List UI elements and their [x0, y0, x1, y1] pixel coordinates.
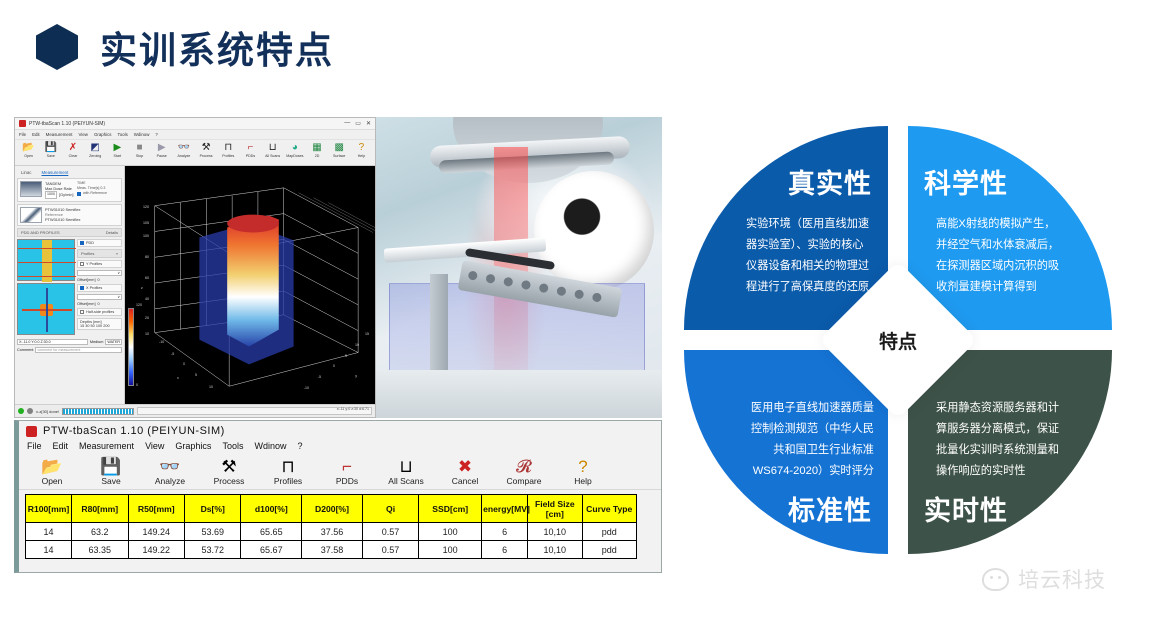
- col-r80: R80[mm]: [72, 495, 128, 523]
- tools-icon: ⚒: [204, 457, 254, 476]
- tools-icon: ⚒: [197, 142, 216, 154]
- toolbar-pdds-button[interactable]: ⌐PDDs: [241, 142, 260, 159]
- with-reference-label: with Reference: [83, 191, 107, 196]
- toolbar-save-button[interactable]: 💾Save: [41, 142, 60, 159]
- menu-window[interactable]: Wdinow: [254, 441, 286, 451]
- scan-results-table: R100[mm] R80[mm] R50[mm] Ds[%] d100[%] D…: [25, 494, 637, 559]
- y-tick-neg10: -10: [304, 386, 309, 390]
- play-icon: ▶: [108, 142, 127, 154]
- z-tick-105: 105: [143, 221, 149, 225]
- toolbar-pause-button[interactable]: ▶Pause: [152, 142, 171, 159]
- cell-r80: 63.2: [72, 523, 128, 541]
- two-d-icon: ▦: [307, 142, 326, 154]
- save-button[interactable]: 💾Save: [86, 457, 136, 487]
- z-tick-20: 20: [145, 316, 149, 320]
- half-side-row[interactable]: Half-side profiles: [77, 308, 122, 316]
- profile-curve-icon: ⊓: [263, 457, 313, 476]
- cell-d100: 65.65: [241, 523, 302, 541]
- cell-r100: 14: [26, 523, 72, 541]
- status-idle-indicator: [27, 408, 33, 414]
- z-tick-100: 100: [143, 234, 149, 238]
- pdd-checkbox[interactable]: [80, 241, 84, 245]
- device-group: TANDEM Max Dose Rate 1000 [Gy/min] TIME …: [17, 178, 122, 202]
- hexagon-icon: [36, 24, 78, 70]
- x-tick-10: 10: [209, 385, 213, 389]
- glasses-icon: 👓: [145, 457, 195, 476]
- cell-field-size: 10,10: [528, 541, 582, 559]
- help-icon: ?: [352, 142, 371, 154]
- pdd-curve-icon: ⌐: [241, 142, 260, 154]
- surface-icon: ▩: [330, 142, 349, 154]
- table-row[interactable]: 14 63.35 149.22 53.72 65.67 37.58 0.57 1…: [26, 541, 637, 559]
- profiles-button[interactable]: ⊓Profiles: [263, 457, 313, 487]
- col-curve-type: Curve Type: [582, 495, 637, 523]
- cell-ssd: 100: [419, 523, 482, 541]
- upper-menubar: File Edit Measurement View Graphics Tool…: [15, 130, 375, 140]
- pdds-button[interactable]: ⌐PDDs: [322, 457, 372, 487]
- upper-statusbar: x-z[30] done! x:-11 y:0 z:30 d:6.71: [15, 404, 375, 417]
- dose-3d-plot: 120 0 z x y 120 105 100 80 60 40 20 10 -…: [125, 166, 375, 404]
- toolbar-all-scans-button[interactable]: ⊔All Scans: [263, 142, 282, 159]
- cell-energy: 6: [482, 523, 528, 541]
- quadrant-title: 科学性: [924, 162, 1008, 201]
- app-icon: [19, 120, 26, 127]
- x-profile-select[interactable]: ∨: [77, 294, 122, 300]
- y-axis-label: y: [355, 374, 357, 378]
- center-label: 特点: [842, 284, 954, 396]
- gantry-bore-shape: [534, 171, 654, 291]
- x-profiles-checkbox[interactable]: [80, 286, 84, 290]
- quadrant-title: 标准性: [788, 489, 872, 528]
- lower-menubar: File Edit Measurement View Graphics Tool…: [19, 439, 661, 454]
- y-tick-15: 15: [365, 332, 369, 336]
- cancel-button[interactable]: ✖Cancel: [440, 457, 490, 487]
- z-tick-40: 40: [145, 297, 149, 301]
- colorbar-min-label: 0: [136, 383, 138, 387]
- upper-app-window: PTW-tbaScan 1.10 (PEIYUN-SIM) — ▭ ✕ File…: [14, 117, 376, 418]
- details-toggle[interactable]: Details: [106, 230, 118, 235]
- x-profiles-row[interactable]: X Profiles: [77, 284, 122, 292]
- status-coords-text: x:-11 y:0 z:30 d:6.71: [337, 407, 369, 411]
- zero-icon: ◩: [86, 142, 105, 154]
- floppy-disk-icon: 💾: [41, 142, 60, 154]
- y-profiles-checkbox[interactable]: [80, 262, 84, 266]
- toolbar-analyze-button[interactable]: 👓Analyze: [174, 142, 193, 159]
- help-button[interactable]: ?Help: [558, 457, 608, 487]
- maximize-button[interactable]: ▭: [355, 120, 361, 127]
- x-profiles-label: X Profiles: [86, 286, 102, 290]
- col-qi: Qi: [362, 495, 418, 523]
- menu-help[interactable]: ?: [155, 132, 157, 137]
- y-profiles-row[interactable]: Y Profiles: [77, 260, 122, 268]
- profiles-subheader: Profiles»: [77, 249, 122, 258]
- cell-d100: 65.67: [241, 541, 302, 559]
- floppy-disk-icon: 💾: [86, 457, 136, 476]
- col-ds: Ds[%]: [185, 495, 241, 523]
- cell-d200: 37.58: [302, 541, 363, 559]
- app-icon: [26, 426, 37, 437]
- x-tick-neg5: -5: [171, 352, 174, 356]
- toolbar-stop-button[interactable]: ■Stop: [130, 142, 149, 159]
- open-button[interactable]: 📂Open: [27, 457, 77, 487]
- menu-view[interactable]: View: [145, 441, 164, 451]
- folder-open-icon: 📂: [19, 142, 38, 154]
- quadrant-description: 采用静态资源服务器和计算服务器分离模式，保证批量化实训时系统测量和操作响应的实时…: [936, 398, 1064, 482]
- cell-r100: 14: [26, 541, 72, 559]
- stop-icon: ■: [130, 142, 149, 154]
- floor-shape: [372, 370, 662, 418]
- col-energy: energy[MV]: [482, 495, 528, 523]
- cell-r50: 149.22: [128, 541, 184, 559]
- detector-group: PTW31010 Semiflex Reference PTW31010 Sem…: [17, 204, 122, 226]
- folder-open-icon: 📂: [27, 457, 77, 476]
- cell-d200: 37.56: [302, 523, 363, 541]
- minimize-button[interactable]: —: [344, 120, 350, 127]
- col-ssd: SSD[cm]: [419, 495, 482, 523]
- menu-view[interactable]: View: [79, 132, 88, 137]
- watermark-text: 培云科技: [1018, 564, 1106, 594]
- cell-r50: 149.24: [128, 523, 184, 541]
- toolbar-zeroing-button[interactable]: ◩Zeroing: [86, 142, 105, 159]
- menu-file[interactable]: File: [19, 132, 26, 137]
- cross-icon: ✗: [63, 142, 82, 154]
- toolbar-surface-button[interactable]: ▩Surface: [330, 142, 349, 159]
- y-profile-select[interactable]: ∨: [77, 270, 122, 276]
- upper-window-title: PTW-tbaScan 1.10 (PEIYUN-SIM): [29, 121, 105, 127]
- col-r50: R50[mm]: [128, 495, 184, 523]
- comment-label: Comment: [17, 348, 33, 352]
- z-tick-60: 60: [145, 276, 149, 280]
- dose-colorbar: [128, 308, 134, 386]
- menu-window[interactable]: Wdinow: [134, 132, 150, 137]
- toolbar-start-button[interactable]: ▶Start: [108, 142, 127, 159]
- offset-label-2: Offset[mm]: [77, 302, 96, 306]
- menu-graphics[interactable]: Graphics: [94, 132, 112, 137]
- wechat-icon: [982, 568, 1009, 591]
- offset-value-2[interactable]: 0: [98, 302, 100, 306]
- toolbar-process-button[interactable]: ⚒Process: [197, 142, 216, 159]
- max-dose-rate-unit: [Gy/min]: [59, 192, 73, 197]
- profile-curve-icon: ⊓: [219, 142, 238, 154]
- section-title: PDD AND PROFILES: [21, 230, 60, 235]
- menu-graphics[interactable]: Graphics: [175, 441, 211, 451]
- y-tick-neg5: -5: [318, 375, 321, 379]
- with-reference-checkbox[interactable]: [77, 192, 81, 196]
- map-doses-icon: ◕: [285, 142, 304, 154]
- colorbar-max-label: 120: [136, 303, 142, 307]
- xy-preview-plot: [17, 283, 75, 335]
- lower-app-window: PTW-tbaScan 1.10 (PEIYUN-SIM) File Edit …: [14, 420, 662, 573]
- y-tick-0: 0: [333, 364, 335, 368]
- reference-detector-name: PTW31010 Semiflex: [45, 217, 119, 222]
- col-d100: d100[%]: [241, 495, 302, 523]
- help-icon: ?: [558, 457, 608, 476]
- menu-measurement[interactable]: Measurement: [46, 132, 73, 137]
- depths-value[interactable]: 15 30 50 100 200: [80, 324, 119, 328]
- z-tick-10: 10: [145, 332, 149, 336]
- quadrant-title: 真实性: [788, 162, 872, 201]
- upper-toolbar: 📂Open 💾Save ✗Clear ◩Zeroing ▶Start ■Stop…: [15, 140, 375, 166]
- all-scans-button[interactable]: ⊔All Scans: [381, 457, 431, 487]
- pause-icon: ▶: [152, 142, 171, 154]
- offset-value-1[interactable]: 0: [98, 278, 100, 282]
- pdd-option-row[interactable]: PDD: [77, 239, 122, 247]
- tab-linac[interactable]: Linac: [21, 170, 32, 175]
- tab-measurement[interactable]: Measurement: [42, 170, 69, 175]
- pdd-label: PDD: [86, 241, 94, 245]
- compare-icon: 𝓡: [499, 457, 549, 476]
- cell-energy: 6: [482, 541, 528, 559]
- plot-svg: [125, 166, 375, 402]
- pdd-profiles-section-header[interactable]: PDD AND PROFILES Details: [17, 228, 122, 237]
- glasses-icon: 👓: [174, 142, 193, 154]
- y-tick-5: 5: [345, 354, 347, 358]
- panel-tabs: Linac Measurement: [17, 168, 122, 178]
- lower-toolbar: 📂Open 💾Save 👓Analyze ⚒Process ⊓Profiles …: [19, 454, 661, 490]
- toolbar-2d-button[interactable]: ▦2D: [307, 142, 326, 159]
- menu-help[interactable]: ?: [297, 441, 302, 451]
- status-text: x-z[30] done!: [36, 409, 59, 414]
- half-side-checkbox[interactable]: [80, 310, 84, 314]
- cell-qi: 0.57: [362, 523, 418, 541]
- close-button[interactable]: ✕: [366, 120, 371, 127]
- pdd-curve-icon: ⌐: [322, 457, 372, 476]
- quadrant-title: 实时性: [924, 489, 1008, 528]
- menu-tools[interactable]: Tools: [118, 132, 128, 137]
- x-tick-0: 0: [183, 362, 185, 366]
- col-field-size: Field Size [cm]: [528, 495, 582, 523]
- toolbar-help-button[interactable]: ?Help: [352, 142, 371, 159]
- x-axis-label: x: [177, 376, 179, 380]
- status-ok-indicator: [18, 408, 24, 414]
- z-tick-120: 120: [143, 205, 149, 209]
- cancel-icon: ✖: [440, 457, 490, 476]
- comment-input[interactable]: comment for measurement: [35, 347, 122, 353]
- depths-row[interactable]: Depths [mm] 15 30 50 100 200: [77, 318, 122, 330]
- quadrant-description: 医用电子直线加速器质量控制检测规范（中华人民共和国卫生行业标准WS674-202…: [746, 398, 874, 482]
- detector-icon: [20, 207, 42, 223]
- cell-qi: 0.57: [362, 541, 418, 559]
- offset-label-1: Offset[mm]: [77, 278, 96, 282]
- cell-ds: 53.72: [185, 541, 241, 559]
- col-r100: R100[mm]: [26, 495, 72, 523]
- menu-measurement[interactable]: Measurement: [79, 441, 134, 451]
- analyze-button[interactable]: 👓Analyze: [145, 457, 195, 487]
- position-readout: X:-11.0 Y:0.0 Z:30.0: [17, 339, 88, 345]
- half-side-label: Half-side profiles: [86, 310, 114, 314]
- cell-curve-type: pdd: [582, 541, 637, 559]
- toolbar-open-button[interactable]: 📂Open: [19, 142, 38, 159]
- x-tick-5: 5: [195, 373, 197, 377]
- cell-ssd: 100: [419, 541, 482, 559]
- pdd-preview-plot: [17, 239, 75, 281]
- features-circle-diagram: 真实性 实验环境（医用直线加速器实验室）、实验的核心仪器设备和相关的物理过程进行…: [684, 126, 1112, 554]
- linac-3d-render-image: [372, 117, 662, 418]
- progress-bar: [62, 408, 134, 415]
- menu-edit[interactable]: Edit: [32, 132, 40, 137]
- watermark: 培云科技: [982, 564, 1106, 594]
- upper-titlebar: PTW-tbaScan 1.10 (PEIYUN-SIM) — ▭ ✕: [15, 118, 375, 130]
- table-row[interactable]: 14 63.2 149.24 53.69 65.65 37.56 0.57 10…: [26, 523, 637, 541]
- x-tick-neg10: -10: [159, 340, 164, 344]
- menu-file[interactable]: File: [27, 441, 42, 451]
- medium-label: Medium: [90, 340, 104, 344]
- all-scans-icon: ⊔: [263, 142, 282, 154]
- measurement-side-panel: Linac Measurement TANDEM Max Dose Rate 1…: [15, 166, 125, 404]
- status-coords-field: x:-11 y:0 z:30 d:6.71: [137, 407, 372, 415]
- lower-titlebar: PTW-tbaScan 1.10 (PEIYUN-SIM): [19, 421, 661, 439]
- all-scans-icon: ⊔: [381, 457, 431, 476]
- menu-tools[interactable]: Tools: [222, 441, 243, 451]
- tandem-device-icon: [20, 181, 42, 197]
- max-dose-rate-input[interactable]: 1000: [45, 191, 57, 198]
- lower-window-title: PTW-tbaScan 1.10 (PEIYUN-SIM): [43, 425, 225, 437]
- toolbar-profiles-button[interactable]: ⊓Profiles: [219, 142, 238, 159]
- cell-r80: 63.35: [72, 541, 128, 559]
- cell-curve-type: pdd: [582, 523, 637, 541]
- z-axis-label: z: [141, 286, 143, 290]
- process-button[interactable]: ⚒Process: [204, 457, 254, 487]
- cell-ds: 53.69: [185, 523, 241, 541]
- software-screenshot-composite: PTW-tbaScan 1.10 (PEIYUN-SIM) — ▭ ✕ File…: [14, 117, 662, 573]
- compare-button[interactable]: 𝓡Compare: [499, 457, 549, 487]
- page-header: 实训系统特点: [36, 20, 334, 74]
- z-tick-80: 80: [145, 255, 149, 259]
- col-d200: D200[%]: [302, 495, 363, 523]
- toolbar-clear-button[interactable]: ✗Clear: [63, 142, 82, 159]
- y-profiles-label: Y Profiles: [86, 262, 102, 266]
- page-title: 实训系统特点: [100, 20, 334, 74]
- y-tick-10: 10: [355, 343, 359, 347]
- cell-field-size: 10,10: [528, 523, 582, 541]
- table-header-row: R100[mm] R80[mm] R50[mm] Ds[%] d100[%] D…: [26, 495, 637, 523]
- medium-select[interactable]: WATER: [105, 339, 122, 345]
- quadrant-description: 高能X射线的模拟产生，并经空气和水体衰减后，在探测器区域内沉积的吸收剂量建模计算…: [936, 214, 1064, 298]
- menu-edit[interactable]: Edit: [53, 441, 69, 451]
- toolbar-map-doses-button[interactable]: ◕MapDoses: [285, 142, 304, 159]
- profiles-label: Profiles: [81, 251, 94, 256]
